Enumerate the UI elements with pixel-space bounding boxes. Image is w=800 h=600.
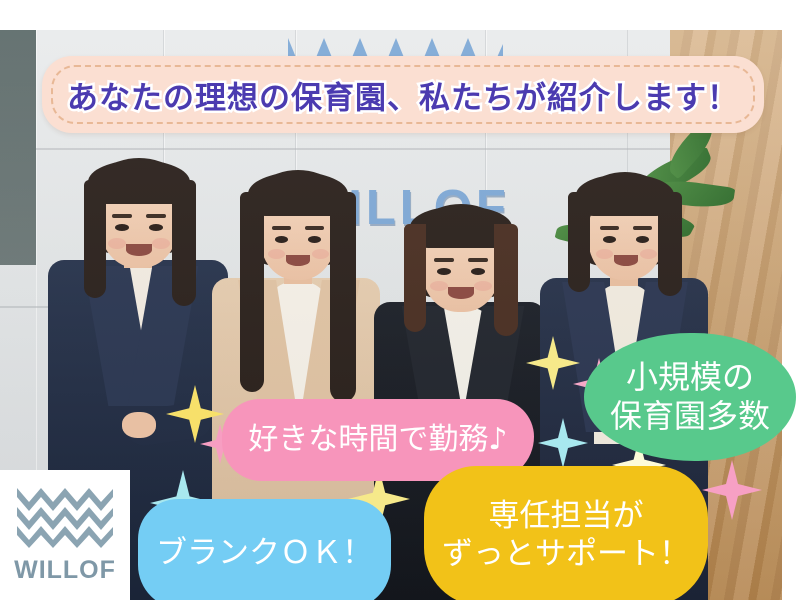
bubble-small-scale-nurseries: 小規模の 保育園多数	[584, 333, 796, 461]
bubble-dedicated-support: 専任担当が ずっとサポート！	[424, 466, 708, 600]
willof-logo-wordmark: WILLOF	[14, 556, 116, 585]
headline-banner: あなたの理想の保育園、私たちが紹介します！	[42, 56, 764, 133]
banner-headline-text: あなたの理想の保育園、私たちが紹介します！	[42, 72, 764, 117]
willof-logo-badge: WILLOF	[0, 470, 130, 600]
willof-zigzag-icon	[17, 486, 113, 548]
wall-dark-column	[0, 30, 36, 265]
bubble-career-gap-ok: ブランクＯＫ！	[138, 499, 391, 600]
advertisement-banner: WILLOF	[0, 0, 800, 600]
